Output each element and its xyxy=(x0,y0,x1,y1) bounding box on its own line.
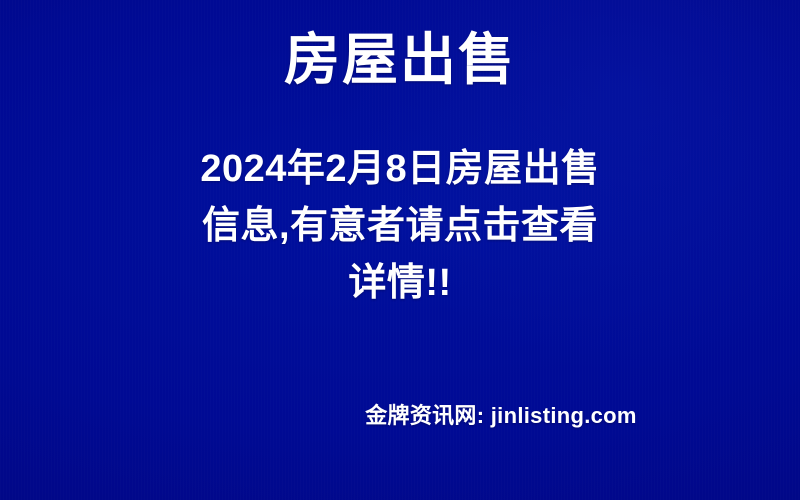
announcement-body: 2024年2月8日房屋出售 信息,有意者请点击查看 详情!! xyxy=(0,141,800,312)
announcement-line-1: 2024年2月8日房屋出售 xyxy=(0,141,800,198)
poster-canvas: 房屋出售 2024年2月8日房屋出售 信息,有意者请点击查看 详情!! 金牌资讯… xyxy=(0,0,800,500)
page-title: 房屋出售 xyxy=(0,26,800,94)
announcement-line-3: 详情!! xyxy=(0,255,800,312)
site-attribution: 金牌资讯网: jinlisting.com xyxy=(0,402,800,430)
announcement-line-2: 信息,有意者请点击查看 xyxy=(0,198,800,255)
